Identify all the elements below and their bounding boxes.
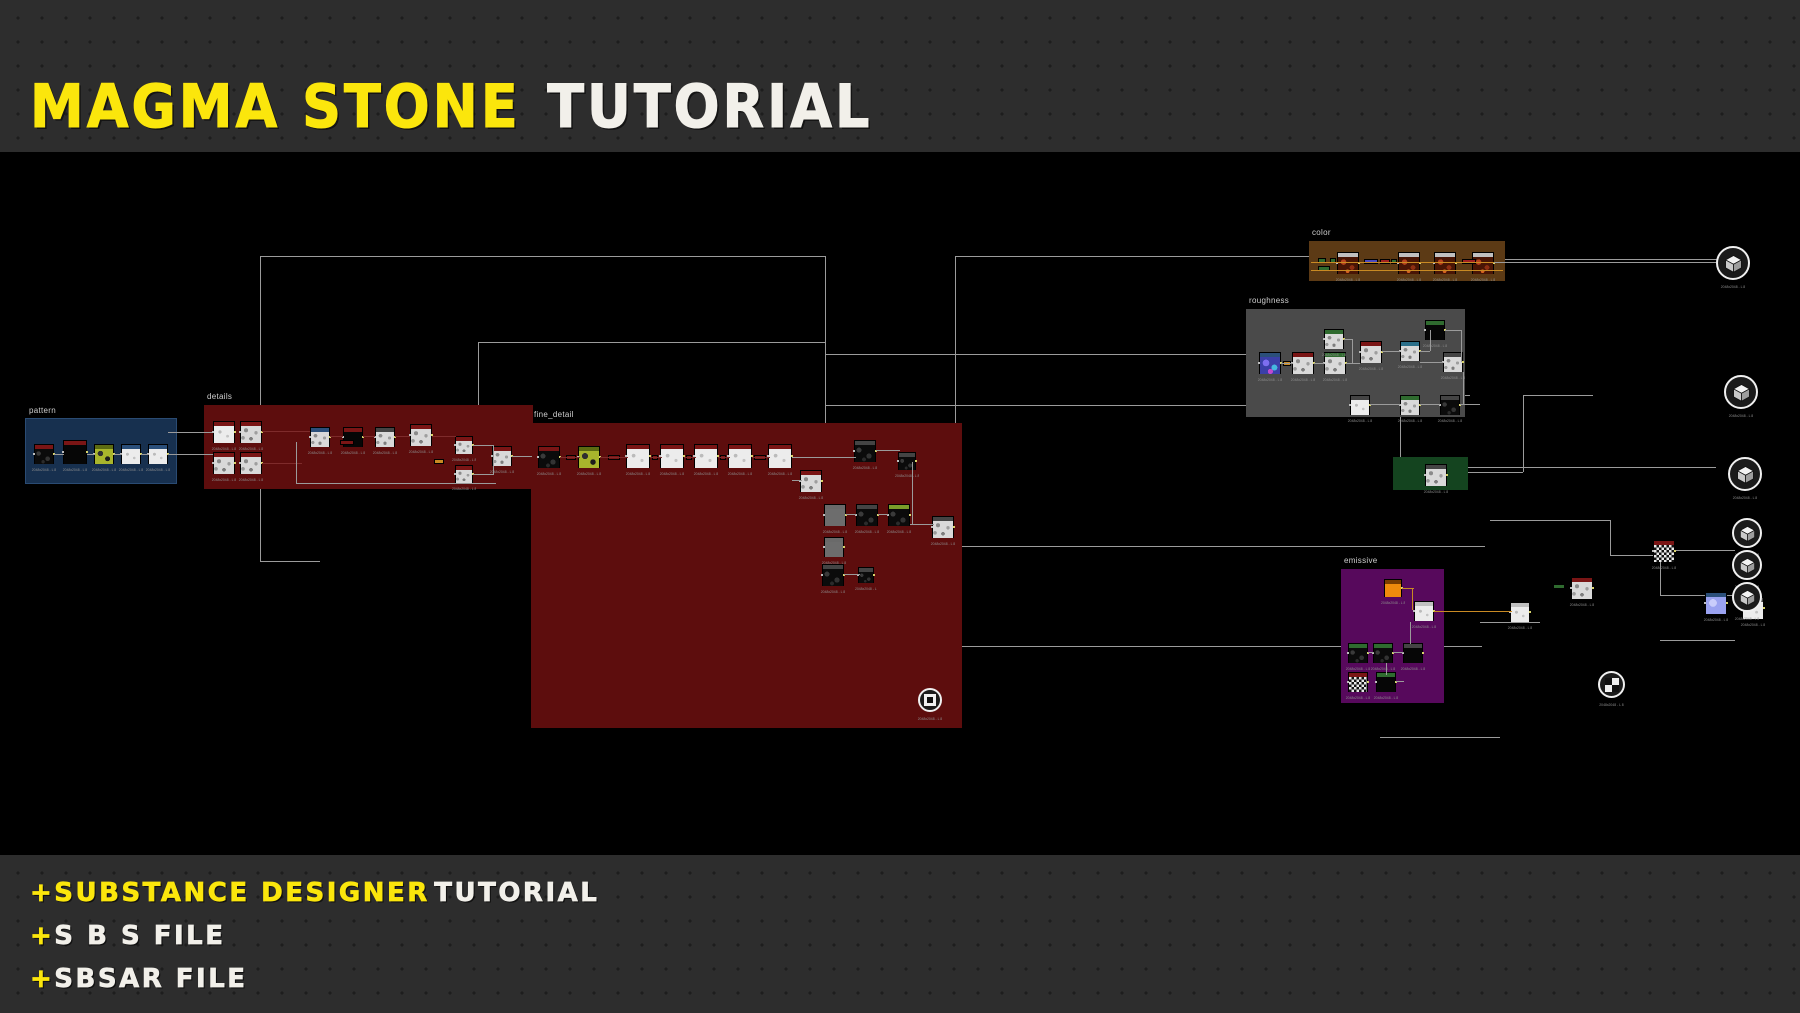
graph-node[interactable]: 2048x2048 - L 8 bbox=[63, 440, 87, 464]
node-thumbnail bbox=[855, 445, 875, 462]
wire-segment bbox=[1380, 737, 1500, 738]
graph-node[interactable]: 2048x2048 - L 8 bbox=[1425, 320, 1445, 340]
node-thumbnail bbox=[149, 449, 167, 464]
node-input-port[interactable] bbox=[33, 453, 35, 455]
wire-segment bbox=[260, 256, 825, 257]
graph-node[interactable]: 2048x2048 - L 8 bbox=[1373, 643, 1393, 663]
node-thumbnail bbox=[1338, 257, 1358, 274]
wire-segment bbox=[912, 462, 913, 524]
wire-segment bbox=[1523, 395, 1593, 396]
wire-segment bbox=[1420, 362, 1443, 363]
wire-segment bbox=[600, 457, 628, 458]
node-thumbnail bbox=[695, 449, 717, 468]
node-thumbnail bbox=[857, 509, 877, 526]
node-input-port[interactable] bbox=[537, 456, 539, 458]
node-input-port[interactable] bbox=[1258, 362, 1260, 364]
wire-segment bbox=[876, 450, 900, 451]
wire-segment bbox=[1344, 339, 1352, 340]
graph-node[interactable]: 2048x2048 - L 8 bbox=[1440, 395, 1460, 415]
node-input-port[interactable] bbox=[853, 450, 855, 452]
wire-segment bbox=[1490, 520, 1610, 521]
cube-icon bbox=[1739, 557, 1756, 574]
graph-node[interactable]: 2048x2048 - L 8 bbox=[856, 504, 878, 526]
frame-label: emissive bbox=[1344, 556, 1378, 565]
header-banner: MAGMA STONE TUTORIAL bbox=[0, 0, 1800, 152]
node-caption: 2048x2048 - L 8 bbox=[906, 717, 954, 721]
graph-node[interactable]: 2048x2048 - L 8 bbox=[1705, 592, 1727, 614]
node-thumbnail bbox=[1426, 325, 1444, 340]
node-caption: 2048x2048 - L 8 bbox=[1422, 344, 1448, 348]
preview-node-levels[interactable]: 2048x2048 - L 8 bbox=[1598, 671, 1625, 698]
node-input-port[interactable] bbox=[1570, 587, 1572, 589]
title-tutorial: TUTORIAL bbox=[547, 72, 872, 142]
graph-node[interactable]: 2048x2048 - L 8 bbox=[1348, 672, 1368, 692]
graph-node[interactable]: 2048x2048 - L 8 bbox=[932, 516, 954, 538]
node-thumbnail bbox=[889, 509, 909, 526]
output-node-ao[interactable]: 2048x2048 - L 8 bbox=[1732, 550, 1762, 580]
graph-node[interactable]: 2048x2048 - L 8 bbox=[1653, 540, 1675, 562]
node-input-port[interactable] bbox=[212, 462, 214, 464]
graph-node[interactable]: 2048x2048 - L 8 bbox=[148, 444, 168, 464]
graph-node[interactable]: 2048x2048 - L 8 bbox=[800, 470, 822, 492]
node-ring bbox=[1716, 246, 1750, 280]
cube-icon bbox=[1732, 383, 1751, 402]
node-caption: 2048x2048 - L 8 bbox=[237, 447, 265, 451]
wire-segment bbox=[1660, 640, 1735, 641]
node-input-port[interactable] bbox=[897, 460, 899, 462]
node-caption: 2048x2048 - L 8 bbox=[1586, 703, 1637, 707]
node-thumbnail bbox=[376, 432, 394, 447]
node-caption: 2048x2048 - L 8 bbox=[691, 472, 721, 476]
node-output-port[interactable] bbox=[1674, 550, 1676, 552]
graph-node[interactable]: 2048x2048 - L 8 bbox=[578, 446, 600, 468]
wire-segment bbox=[650, 457, 662, 458]
graph-node[interactable]: 2048x2048 - L 8 bbox=[1400, 395, 1420, 415]
node-output-port[interactable] bbox=[953, 526, 955, 528]
footer-line-1: +SUBSTANCE DESIGNER TUTORIAL bbox=[30, 878, 599, 908]
node-output-port[interactable] bbox=[909, 514, 911, 516]
node-caption: 2048x2048 - L 8 bbox=[1704, 285, 1762, 289]
node-caption: 2048x2048 - L 8 bbox=[1321, 353, 1347, 357]
node-thumbnail bbox=[1325, 357, 1345, 374]
cube-icon bbox=[1736, 465, 1755, 484]
node-output-port[interactable] bbox=[1592, 587, 1594, 589]
wire-segment bbox=[1281, 363, 1293, 364]
wire-segment bbox=[260, 561, 320, 562]
title-magma-stone: MAGMA STONE bbox=[30, 72, 521, 142]
node-caption: 2048x2048 - L 8 bbox=[1381, 601, 1405, 605]
node-input-port[interactable] bbox=[821, 574, 823, 576]
node-caption: 2048x2048 - L 8 bbox=[1334, 278, 1362, 282]
node-thumbnail bbox=[214, 426, 234, 443]
preview-node-fx[interactable]: 2048x2048 - L 8 bbox=[918, 688, 942, 712]
node-caption: 2048x2048 - L 8 bbox=[452, 458, 476, 462]
footer-white-text: TUTORIAL bbox=[434, 878, 599, 908]
node-caption: 2048x2048 - L 8 bbox=[145, 468, 171, 472]
frame-label: fine_detail bbox=[534, 410, 574, 419]
graph-node[interactable]: 2048x2048 - L 8 bbox=[1376, 672, 1396, 692]
node-caption: 2048x2048 - L 8 bbox=[1568, 603, 1596, 607]
node-input-port[interactable] bbox=[1323, 338, 1325, 340]
node-thumbnail bbox=[122, 449, 140, 464]
wire-segment bbox=[1430, 330, 1431, 351]
graph-node[interactable]: 2048x2048 - L 8 bbox=[728, 444, 752, 468]
node-output-port[interactable] bbox=[873, 574, 875, 576]
node-output-port[interactable] bbox=[1529, 611, 1531, 613]
node-caption: 2048x2048 - L 8 bbox=[60, 468, 90, 472]
wire-segment bbox=[1445, 330, 1461, 331]
node-caption: 2048x2048 - L 8 bbox=[407, 450, 435, 454]
node-caption: 2048x2048 - L 8 bbox=[31, 468, 57, 472]
graph-node[interactable]: 2048x2048 - L 8 bbox=[660, 444, 684, 468]
graph-node[interactable]: 2048x2048 - L 8 bbox=[1414, 601, 1434, 621]
footer-line-2: +S B S FILE bbox=[30, 921, 225, 951]
value-chip[interactable] bbox=[434, 459, 444, 464]
node-thumbnail bbox=[1426, 469, 1446, 486]
output-node-height[interactable]: 2048x2048 - L 8 bbox=[1728, 457, 1762, 491]
node-caption: 2048x2048 - L 8 bbox=[1345, 696, 1371, 700]
value-chip[interactable] bbox=[340, 440, 354, 445]
graph-node[interactable]: 2048x2048 - L 8 bbox=[1384, 579, 1402, 597]
node-caption: 2048x2048 - L 8 bbox=[1321, 378, 1349, 382]
graph-node[interactable]: 2048x2048 - L 8 bbox=[1571, 577, 1593, 599]
wire-segment bbox=[1311, 270, 1503, 271]
wire-segment bbox=[1460, 404, 1480, 405]
node-thumbnail bbox=[825, 542, 843, 557]
node-input-port[interactable] bbox=[1347, 652, 1349, 654]
node-input-port[interactable] bbox=[823, 514, 825, 516]
node-caption: 2048x2048 - L 8 bbox=[1397, 365, 1423, 369]
node-thumbnail bbox=[539, 451, 559, 468]
node-thumbnail bbox=[1401, 346, 1419, 361]
node-input-port[interactable] bbox=[454, 473, 456, 475]
wire-segment bbox=[1410, 622, 1411, 644]
node-caption: 2048x2048 - L 8 bbox=[657, 472, 687, 476]
node-caption: 2048x2048 - L 8 bbox=[1431, 278, 1459, 282]
node-caption: 2048x2048 - L 8 bbox=[1650, 566, 1678, 570]
output-node-emissive[interactable]: 2048x2048 - L 8 bbox=[1732, 582, 1762, 612]
wire-segment bbox=[910, 524, 934, 525]
footer-yellow-text: SUBSTANCE DESIGNER bbox=[54, 878, 430, 908]
node-caption: 2048x2048 - L 8 bbox=[797, 496, 825, 500]
wire-segment bbox=[1420, 404, 1440, 405]
node-caption: 2048x2048 - L 8 bbox=[307, 451, 333, 455]
node-output-port[interactable] bbox=[821, 480, 823, 482]
node-output-port[interactable] bbox=[234, 431, 236, 433]
node-ring bbox=[1732, 518, 1762, 548]
node-ring bbox=[1598, 671, 1625, 698]
node-thumbnail bbox=[729, 449, 751, 468]
graph-node[interactable]: 2048x2048 - L 8 bbox=[626, 444, 650, 468]
wire-segment bbox=[493, 445, 494, 475]
wire-segment bbox=[846, 514, 856, 515]
graph-node[interactable]: 2048x2048 - L 8 bbox=[1425, 464, 1447, 486]
node-output-port[interactable] bbox=[1367, 681, 1369, 683]
node-output-port[interactable] bbox=[86, 451, 88, 453]
wire-segment bbox=[1468, 259, 1718, 260]
wire-segment bbox=[1461, 330, 1462, 362]
wire-segment bbox=[512, 456, 532, 457]
wire-segment bbox=[684, 457, 696, 458]
frame-label: color bbox=[1312, 228, 1331, 237]
graph-node[interactable]: 2048x2048 - L 8 bbox=[768, 444, 792, 468]
node-thumbnail bbox=[241, 426, 261, 443]
node-thumbnail bbox=[1361, 346, 1381, 363]
node-ring bbox=[1732, 550, 1762, 580]
footer-banner: +SUBSTANCE DESIGNER TUTORIAL +S B S FILE… bbox=[0, 855, 1800, 1013]
graph-node[interactable]: 2048x2048 - L 8 bbox=[694, 444, 718, 468]
wire-segment bbox=[363, 436, 375, 437]
plus-icon: + bbox=[30, 921, 54, 951]
wire-segment bbox=[955, 256, 1310, 257]
graph-node[interactable]: 2048x2048 - L 8 bbox=[824, 504, 846, 526]
graph-node[interactable]: 2048x2048 - L 8 bbox=[375, 427, 395, 447]
node-input-port[interactable] bbox=[239, 431, 241, 433]
node-caption: 2048x2048 - L 8 bbox=[1357, 367, 1385, 371]
node-caption: 2048x2048 - L 8 bbox=[1256, 378, 1284, 382]
node-caption: 2048x2048 - L 8 bbox=[1345, 667, 1371, 671]
graph-node[interactable]: 2048x2048 - L 8 bbox=[898, 452, 916, 470]
wire-segment bbox=[878, 514, 888, 515]
node-caption: 2048x2048 - L 8 bbox=[725, 472, 755, 476]
node-thumbnail bbox=[95, 449, 113, 464]
graph-node[interactable]: 2048x2048 - L 8 bbox=[240, 421, 262, 443]
node-thumbnail bbox=[1404, 648, 1422, 663]
wire-segment bbox=[955, 546, 1485, 547]
wire-segment bbox=[1352, 339, 1353, 363]
graph-node[interactable]: 2048x2048 - L 8 bbox=[854, 440, 876, 462]
node-thumbnail bbox=[825, 509, 845, 526]
graph-node[interactable]: 2048x2048 - L 8 bbox=[538, 446, 560, 468]
node-caption: 2048x2048 - L 8 bbox=[1716, 496, 1774, 500]
node-input-port[interactable] bbox=[239, 462, 241, 464]
node-caption: 2048x2048 - L 8 bbox=[452, 487, 476, 491]
node-thumbnail bbox=[933, 521, 953, 538]
frame-label: roughness bbox=[1249, 296, 1289, 305]
footer-white-text: S B S FILE bbox=[54, 921, 225, 951]
graph-node[interactable]: 2048x2048 - L 8 bbox=[121, 444, 141, 464]
node-ring bbox=[918, 688, 942, 712]
plus-icon: + bbox=[30, 964, 54, 994]
node-input-port[interactable] bbox=[1424, 474, 1426, 476]
output-node-color[interactable]: 2048x2048 - L 8 bbox=[1716, 246, 1750, 280]
wire-segment bbox=[1412, 588, 1413, 610]
node-input-port[interactable] bbox=[309, 436, 311, 438]
node-thumbnail bbox=[1260, 357, 1280, 374]
node-input-port[interactable] bbox=[931, 526, 933, 528]
node-caption: 2048x2048 - L 8 bbox=[1422, 490, 1450, 494]
page-title: MAGMA STONE TUTORIAL bbox=[30, 72, 872, 142]
node-caption: 2048x2048 - L 8 bbox=[819, 590, 847, 594]
wire-segment bbox=[792, 457, 856, 458]
wire-segment bbox=[395, 436, 410, 437]
wire-segment bbox=[752, 457, 770, 458]
node-input-port[interactable] bbox=[212, 431, 214, 433]
node-thumbnail bbox=[1401, 400, 1419, 415]
graph-node[interactable]: 2048x2048 - L 8 bbox=[1443, 352, 1463, 372]
node-caption: 2048x2048 - L 8 bbox=[1347, 419, 1373, 423]
wire-segment bbox=[1420, 351, 1430, 352]
wire-segment bbox=[560, 457, 580, 458]
node-caption: 2048x2048 - L 8 bbox=[821, 530, 849, 534]
node-caption: 2048x2048 - L 8 bbox=[1397, 419, 1423, 423]
node-thumbnail bbox=[1444, 357, 1462, 372]
node-thumbnail bbox=[1351, 400, 1369, 415]
graph-node[interactable]: 2048x2048 - L 8 bbox=[34, 444, 54, 464]
node-caption: 2048x2048 - L 8 bbox=[851, 466, 879, 470]
graph-node[interactable]: 2048x2048 - L 8 bbox=[824, 537, 844, 557]
node-output-port[interactable] bbox=[1462, 361, 1464, 363]
node-thumbnail bbox=[1374, 648, 1392, 663]
value-chip[interactable] bbox=[1553, 584, 1565, 589]
wire-segment bbox=[262, 431, 310, 432]
graph-node[interactable]: 2048x2048 - L 8 bbox=[1348, 643, 1368, 663]
graph-node[interactable]: 2048x2048 - L 8 bbox=[94, 444, 114, 464]
node-caption: 2048x2048 - L 8 bbox=[1739, 623, 1767, 627]
node-thumbnail bbox=[627, 449, 649, 468]
node-input-port[interactable] bbox=[1652, 550, 1654, 552]
wire-segment bbox=[432, 436, 456, 437]
node-thumbnail bbox=[801, 475, 821, 492]
graph-node[interactable]: 2048x2048 - L 8 bbox=[213, 421, 235, 443]
wire-segment bbox=[718, 457, 730, 458]
node-input-port[interactable] bbox=[454, 444, 456, 446]
node-caption: 2048x2048 - L 8 bbox=[535, 472, 563, 476]
node-output-port[interactable] bbox=[843, 546, 845, 548]
node-output-port[interactable] bbox=[1726, 602, 1728, 604]
graph-node[interactable]: 2048x2048 - L 8 bbox=[888, 504, 910, 526]
cube-icon bbox=[1724, 254, 1743, 273]
node-output-port[interactable] bbox=[915, 460, 917, 462]
wire-segment bbox=[1468, 467, 1716, 468]
wire-segment bbox=[1480, 622, 1540, 623]
graph-node[interactable]: 2048x2048 - L 8 bbox=[1259, 352, 1281, 374]
node-caption: 2048x2048 - L 8 bbox=[765, 472, 795, 476]
graph-node[interactable]: 2048x2048 - L 8 bbox=[1400, 341, 1420, 361]
wire-segment bbox=[478, 342, 825, 343]
node-input-port[interactable] bbox=[1424, 329, 1426, 331]
node-input-port[interactable] bbox=[823, 546, 825, 548]
node-caption: 2048x2048 - L 8 bbox=[1437, 419, 1463, 423]
node-caption: 2048x2048 - L 8 bbox=[1712, 414, 1770, 418]
output-node-roughness[interactable]: 2048x2048 - L 8 bbox=[1724, 375, 1758, 409]
node-output-port[interactable] bbox=[1446, 474, 1448, 476]
graph-node[interactable]: 2048x2048 - L 8 bbox=[822, 564, 844, 586]
wire-segment bbox=[1610, 520, 1611, 555]
node-input-port[interactable] bbox=[1375, 681, 1377, 683]
graph-node[interactable]: 2048x2048 - L 8 bbox=[1350, 395, 1370, 415]
node-input-port[interactable] bbox=[1413, 610, 1415, 612]
node-thumbnail bbox=[1706, 597, 1726, 614]
node-graph-canvas[interactable]: pattern details fine_detail color roughn… bbox=[0, 152, 1800, 855]
node-caption: 2048x2048 - L 8 bbox=[1370, 667, 1396, 671]
graph-node[interactable]: 2048x2048 - L 8 bbox=[492, 446, 512, 466]
node-output-port[interactable] bbox=[234, 462, 236, 464]
wire-segment bbox=[54, 454, 64, 455]
fx-icon bbox=[924, 694, 936, 706]
frame-label: details bbox=[207, 392, 232, 401]
node-ring bbox=[1728, 457, 1762, 491]
wire-segment bbox=[1386, 663, 1387, 675]
node-thumbnail bbox=[1654, 545, 1674, 562]
node-caption: 2048x2048 - L 8 bbox=[210, 447, 238, 451]
wire-segment bbox=[1311, 262, 1503, 263]
graph-node[interactable]: 2048x2048 - L 8 bbox=[1403, 643, 1423, 663]
node-caption: 2048x2048 - L 8 bbox=[237, 478, 265, 482]
output-node-normal[interactable]: 2048x2048 - L 8 bbox=[1732, 518, 1762, 548]
node-input-port[interactable] bbox=[1359, 351, 1361, 353]
frame-label: pattern bbox=[29, 406, 56, 415]
graph-node[interactable]: 2048x2048 - L 8 bbox=[213, 452, 235, 474]
node-thumbnail bbox=[1377, 677, 1395, 692]
graph-node[interactable]: 2048x2048 - L 8 bbox=[310, 427, 330, 447]
wire-segment bbox=[1494, 262, 1716, 263]
plus-icon: + bbox=[30, 878, 54, 908]
wire-segment bbox=[114, 454, 122, 455]
node-caption: 2048x2048 - L 8 bbox=[895, 474, 919, 478]
footer-white-text: SBSAR FILE bbox=[54, 964, 247, 994]
node-caption: 2048x2048 - L 8 bbox=[1395, 278, 1423, 282]
graph-node[interactable]: 2048x2048 - L 8 bbox=[1324, 329, 1344, 349]
node-thumbnail bbox=[1349, 648, 1367, 663]
node-output-port[interactable] bbox=[1763, 607, 1765, 609]
wire-segment bbox=[792, 480, 802, 481]
node-thumbnail bbox=[823, 569, 843, 586]
node-caption: 2048x2048 - L 8 bbox=[575, 472, 603, 476]
node-caption: 2048x2048 - L 8 bbox=[853, 530, 881, 534]
node-caption: 2048x2048 - L 8 bbox=[372, 451, 398, 455]
node-thumbnail bbox=[1435, 257, 1455, 274]
node-thumbnail bbox=[769, 449, 791, 468]
wire-segment bbox=[168, 432, 218, 433]
node-input-port[interactable] bbox=[1347, 681, 1349, 683]
node-thumbnail bbox=[579, 451, 599, 468]
node-thumbnail bbox=[1293, 357, 1313, 374]
node-thumbnail bbox=[859, 572, 873, 583]
node-output-port[interactable] bbox=[1422, 652, 1424, 654]
screenshot-root: MAGMA STONE TUTORIAL bbox=[0, 0, 1800, 1013]
node-thumbnail bbox=[456, 470, 472, 483]
node-thumbnail bbox=[311, 432, 329, 447]
node-caption: 2048x2048 - L 8 bbox=[340, 451, 366, 455]
node-input-port[interactable] bbox=[1704, 602, 1706, 604]
wire-segment bbox=[141, 454, 149, 455]
wire-segment bbox=[1463, 372, 1464, 404]
wire-segment bbox=[1396, 681, 1404, 682]
graph-node[interactable]: 2048x2048 - L 8 bbox=[455, 436, 473, 454]
graph-node[interactable]: 2048x2048 - L 8 bbox=[1510, 602, 1530, 622]
node-input-port[interactable] bbox=[1349, 404, 1351, 406]
wire-segment bbox=[1393, 652, 1404, 653]
node-caption: 2048x2048 - L 8 bbox=[1400, 667, 1426, 671]
node-thumbnail bbox=[1349, 677, 1367, 692]
graph-node[interactable]: 2048x2048 - L 8 bbox=[240, 452, 262, 474]
node-thumbnail bbox=[661, 449, 683, 468]
graph-node[interactable]: 2048x2048 - L 8 bbox=[1292, 352, 1314, 374]
graph-node[interactable]: 2048x2048 - L 8 bbox=[1360, 341, 1382, 363]
node-caption: 2048x2048 - L 8 bbox=[1373, 696, 1399, 700]
node-thumbnail bbox=[1399, 257, 1419, 274]
node-thumbnail bbox=[1415, 606, 1433, 621]
node-thumbnail bbox=[1511, 607, 1529, 622]
node-thumbnail bbox=[411, 429, 431, 446]
node-thumbnail bbox=[1441, 400, 1459, 415]
graph-node[interactable]: 2048x2048 - L 8 bbox=[410, 424, 432, 446]
graph-node[interactable]: 2048x2048 - L 8 bbox=[858, 567, 874, 583]
node-input-port[interactable] bbox=[62, 451, 64, 453]
wire-segment bbox=[87, 454, 95, 455]
graph-node[interactable]: 2048x2048 - L 8 bbox=[455, 465, 473, 483]
